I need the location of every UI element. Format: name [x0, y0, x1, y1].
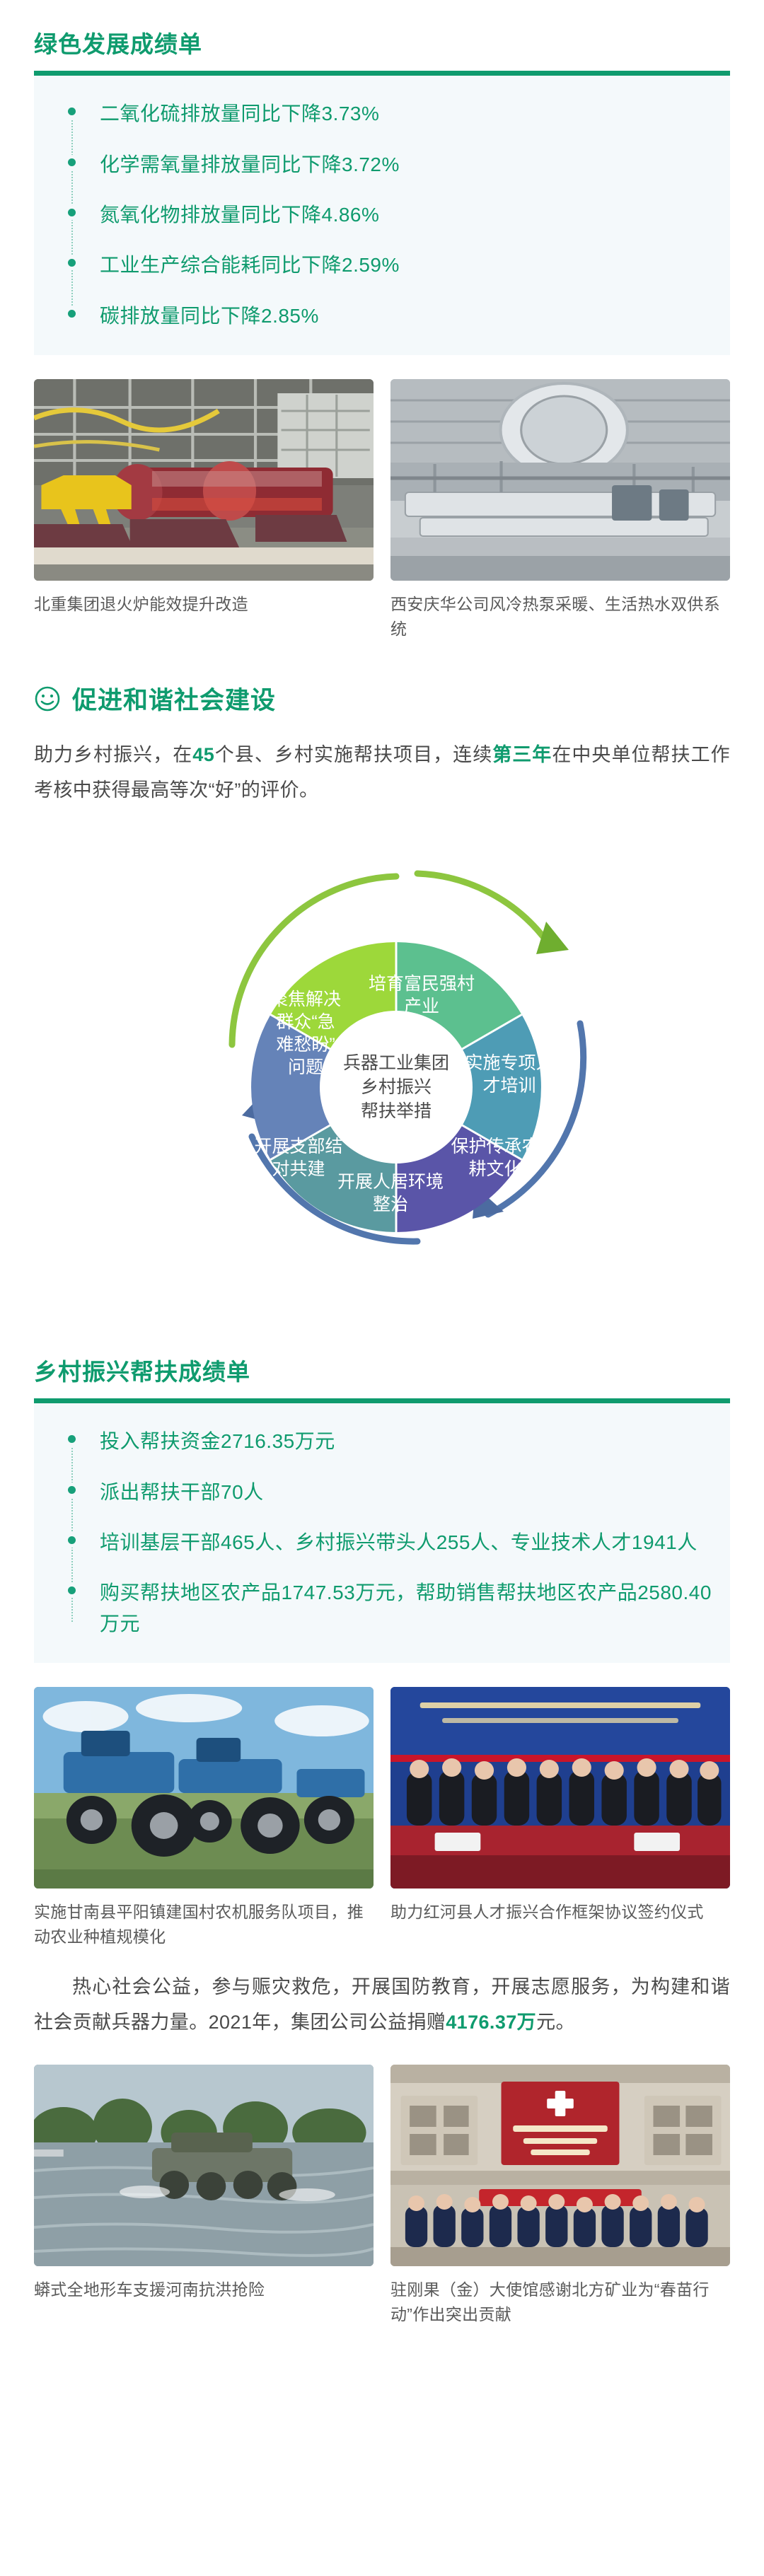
green-photo-cell-1: 北重集团退火炉能效提升改造 [34, 379, 374, 641]
caption: 实施甘南县平阳镇建国村农机服务队项目，推动农业种植规模化 [34, 1900, 374, 1949]
list-item-label: 培训基层干部465人、乡村振兴带头人255人、专业技术人才1941人 [100, 1527, 698, 1557]
charity-para-part1: 热心社会公益，参与赈灾救危，开展国防教育，开展志愿服务，为构建和谐社会贡献兵器力… [34, 1976, 730, 2033]
list-item: 氮氧化物排放量同比下降4.86% [66, 199, 723, 230]
bullet-dot-icon [68, 1435, 76, 1443]
society-section-heading-row: 促进和谐社会建设 [34, 680, 730, 716]
list-item-label: 派出帮扶干部70人 [100, 1477, 264, 1507]
rural-measures-wheel-wrap: 兵器工业集团 乡村振兴 帮扶举措 培育富民强村 产业 实施专项人 才培训 保护传… [34, 832, 730, 1328]
bullet-dot-icon [68, 108, 76, 115]
rural-photo-cell-2: 助力红河县人才振兴合作框架协议签约仪式 [390, 1687, 730, 1949]
bullet-dot-icon [68, 259, 76, 267]
caption: 西安庆华公司风冷热泵采暖、生活热水双供系统 [390, 592, 730, 641]
smiley-icon [34, 685, 61, 712]
rural-bullet-card: 投入帮扶资金2716.35万元 派出帮扶干部70人 培训基层干部465人、乡村振… [34, 1403, 730, 1663]
rural-section-rule [34, 1398, 730, 1403]
list-item-label: 投入帮扶资金2716.35万元 [100, 1426, 335, 1456]
caption: 驻刚果（金）大使馆感谢北方矿业为“春苗行动”作出突出贡献 [390, 2278, 730, 2326]
list-item: 工业生产综合能耗同比下降2.59% [66, 250, 723, 280]
charity-para-highlight: 4176.37万 [446, 2012, 536, 2033]
green-bullet-card: 二氧化硫排放量同比下降3.73% 化学需氧量排放量同比下降3.72% 氮氧化物排… [34, 76, 730, 355]
charity-photo-cell-1: 蟒式全地形车支援河南抗洪抢险 [34, 2065, 374, 2326]
charity-photo-cell-2: 驻刚果（金）大使馆感谢北方矿业为“春苗行动”作出突出贡献 [390, 2065, 730, 2326]
green-section-rule [34, 71, 730, 76]
bullet-dot-icon [68, 1486, 76, 1494]
wheel-segment-label-4-1: 对共建 [272, 1159, 325, 1179]
embassy-photo [390, 2065, 730, 2266]
rural-photo-cell-1: 实施甘南县平阳镇建国村农机服务队项目，推动农业种植规模化 [34, 1687, 374, 1949]
wheel-segment-label-1-1: 才培训 [482, 1076, 536, 1096]
caption: 蟒式全地形车支援河南抗洪抢险 [34, 2278, 374, 2302]
rural-bullet-list: 投入帮扶资金2716.35万元 派出帮扶干部70人 培训基层干部465人、乡村振… [41, 1426, 723, 1639]
list-item: 二氧化硫排放量同比下降3.73% [66, 98, 723, 129]
list-item: 培训基层干部465人、乡村振兴带头人255人、专业技术人才1941人 [66, 1527, 723, 1557]
wheel-segment-label-4-0: 开展支部结 [254, 1137, 342, 1156]
society-para-highlight-1: 45 [192, 744, 214, 765]
list-item: 碳排放量同比下降2.85% [66, 301, 723, 331]
list-item-label: 化学需氧量排放量同比下降3.72% [100, 149, 400, 180]
green-section-heading: 绿色发展成绩单 [34, 28, 730, 61]
charity-para-part2: 元。 [536, 2012, 575, 2033]
bullet-dot-icon [68, 158, 76, 166]
list-item: 派出帮扶干部70人 [66, 1477, 723, 1507]
list-item-label: 氮氧化物排放量同比下降4.86% [100, 199, 379, 230]
wheel-segment-label-5-0: 聚焦解决 [270, 990, 341, 1009]
green-photo-cell-2: 西安庆华公司风冷热泵采暖、生活热水双供系统 [390, 379, 730, 641]
charity-paragraph: 热心社会公益，参与赈灾救危，开展国防教育，开展志愿服务，为构建和谐社会贡献兵器力… [34, 1970, 730, 2041]
list-item: 购买帮扶地区农产品1747.53万元，帮助销售帮扶地区农产品2580.40万元 [66, 1577, 723, 1639]
green-photo-row: 北重集团退火炉能效提升改造 [34, 379, 730, 641]
bullet-dot-icon [68, 1586, 76, 1594]
society-section-title: 促进和谐社会建设 [72, 680, 276, 716]
furnace-photo [34, 379, 374, 581]
rural-section-heading: 乡村振兴帮扶成绩单 [34, 1356, 730, 1388]
society-para-part1: 助力乡村振兴，在 [34, 744, 192, 765]
wheel-segment-label-3-0: 开展人居环境 [337, 1172, 444, 1192]
rural-measures-wheel: 兵器工业集团 乡村振兴 帮扶举措 培育富民强村 产业 实施专项人 才培训 保护传… [113, 832, 651, 1328]
caption: 北重集团退火炉能效提升改造 [34, 592, 374, 617]
caption: 助力红河县人才振兴合作框架协议签约仪式 [390, 1900, 730, 1925]
signing-ceremony-photo [390, 1687, 730, 1889]
wheel-hub-line-1: 乡村振兴 [361, 1077, 432, 1097]
list-item-label: 二氧化硫排放量同比下降3.73% [100, 98, 379, 129]
wheel-segment-label-0-0: 培育富民强村 [369, 974, 475, 994]
society-para-highlight-2: 第三年 [492, 744, 552, 765]
list-item-label: 碳排放量同比下降2.85% [100, 301, 319, 331]
wheel-segment-label-1-0: 实施专项人 [465, 1053, 553, 1073]
list-item-label: 购买帮扶地区农产品1747.53万元，帮助销售帮扶地区农产品2580.40万元 [100, 1577, 723, 1639]
society-paragraph: 助力乡村振兴，在45个县、乡村实施帮扶项目，连续第三年在中央单位帮扶工作考核中获… [34, 738, 730, 808]
bullet-dot-icon [68, 1536, 76, 1544]
wheel-hub-line-2: 帮扶举措 [361, 1101, 432, 1121]
wheel-segment-label-5-3: 问题 [288, 1057, 323, 1077]
flood-rescue-photo [34, 2065, 374, 2266]
bullet-dot-icon [68, 310, 76, 318]
tractor-photo [34, 1687, 374, 1889]
wheel-segment-label-2-1: 耕文化 [468, 1159, 521, 1179]
wheel-segment-label-2-0: 保护传承农 [451, 1137, 539, 1156]
green-bullet-list: 二氧化硫排放量同比下降3.73% 化学需氧量排放量同比下降3.72% 氮氧化物排… [41, 98, 723, 331]
wheel-segment-label-5-1: 群众“急 [276, 1012, 335, 1032]
society-para-part2: 个县、乡村实施帮扶项目，连续 [214, 744, 492, 765]
wheel-segment-label-5-2: 难愁盼” [276, 1035, 335, 1055]
heat-pump-photo [390, 379, 730, 581]
wheel-segment-label-0-1: 产业 [404, 997, 439, 1016]
wheel-segment-label-3-1: 整治 [373, 1195, 408, 1214]
bullet-dot-icon [68, 209, 76, 216]
list-item: 化学需氧量排放量同比下降3.72% [66, 149, 723, 180]
charity-photo-row: 蟒式全地形车支援河南抗洪抢险 [34, 2065, 730, 2326]
rural-photo-row: 实施甘南县平阳镇建国村农机服务队项目，推动农业种植规模化 [34, 1687, 730, 1949]
list-item-label: 工业生产综合能耗同比下降2.59% [100, 250, 400, 280]
list-item: 投入帮扶资金2716.35万元 [66, 1426, 723, 1456]
wheel-hub-line-0: 兵器工业集团 [343, 1053, 449, 1073]
